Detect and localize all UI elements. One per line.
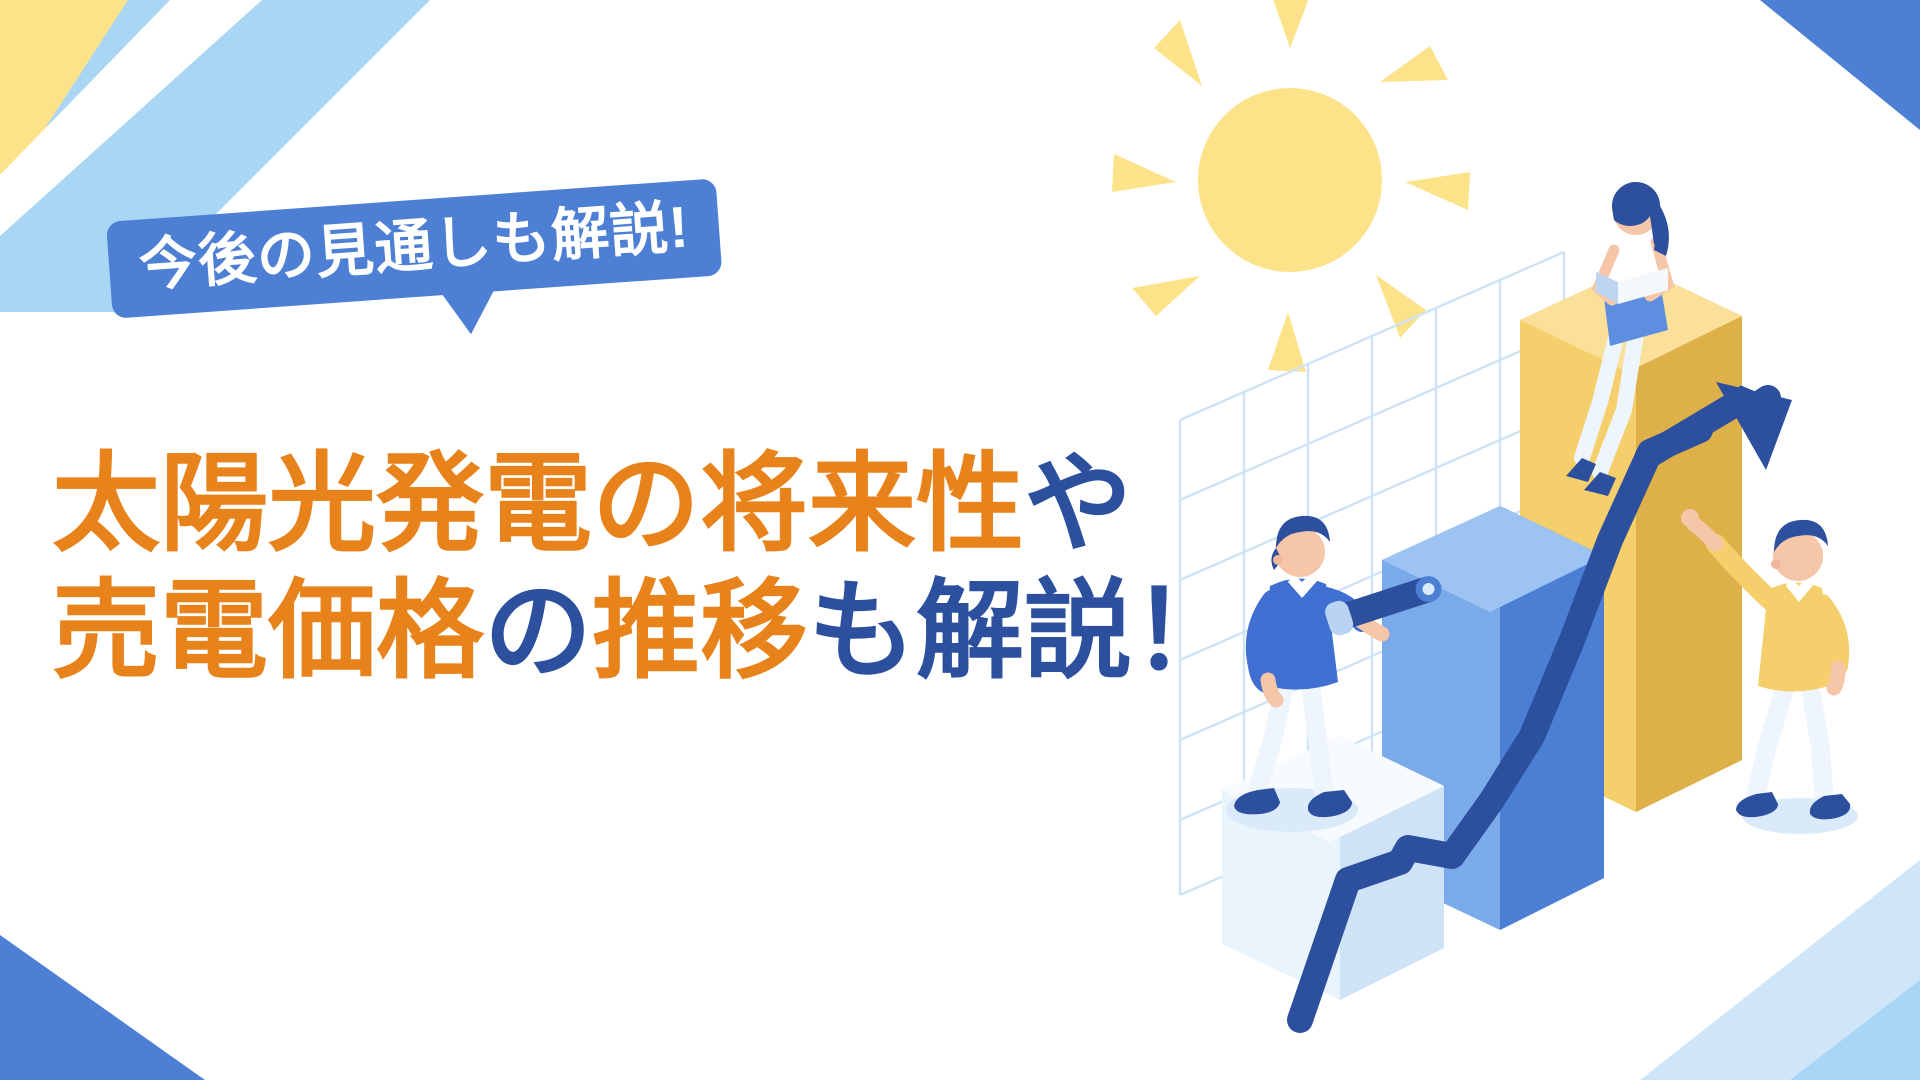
headline-line-2: 売電価格の推移も解説！ <box>52 567 1240 694</box>
headline-seg-blue-2: の <box>484 570 592 691</box>
banner-root: 今後の見通しも解説! 太陽光発電の将来性や 売電価格の推移も解説！ <box>0 0 1920 1080</box>
headline-seg-blue-3: も解説！ <box>808 570 1240 691</box>
speech-bubble-tail <box>442 290 497 336</box>
page-title: 太陽光発電の将来性や 売電価格の推移も解説！ <box>52 440 1240 695</box>
headline-line-1: 太陽光発電の将来性や <box>52 440 1240 567</box>
headline-seg-orange-3: 推移 <box>592 570 808 691</box>
headline-seg-orange-1: 太陽光発電の将来性 <box>52 443 1024 564</box>
headline-seg-blue-1: や <box>1024 443 1132 564</box>
headline-seg-orange-2: 売電価格 <box>52 570 484 691</box>
